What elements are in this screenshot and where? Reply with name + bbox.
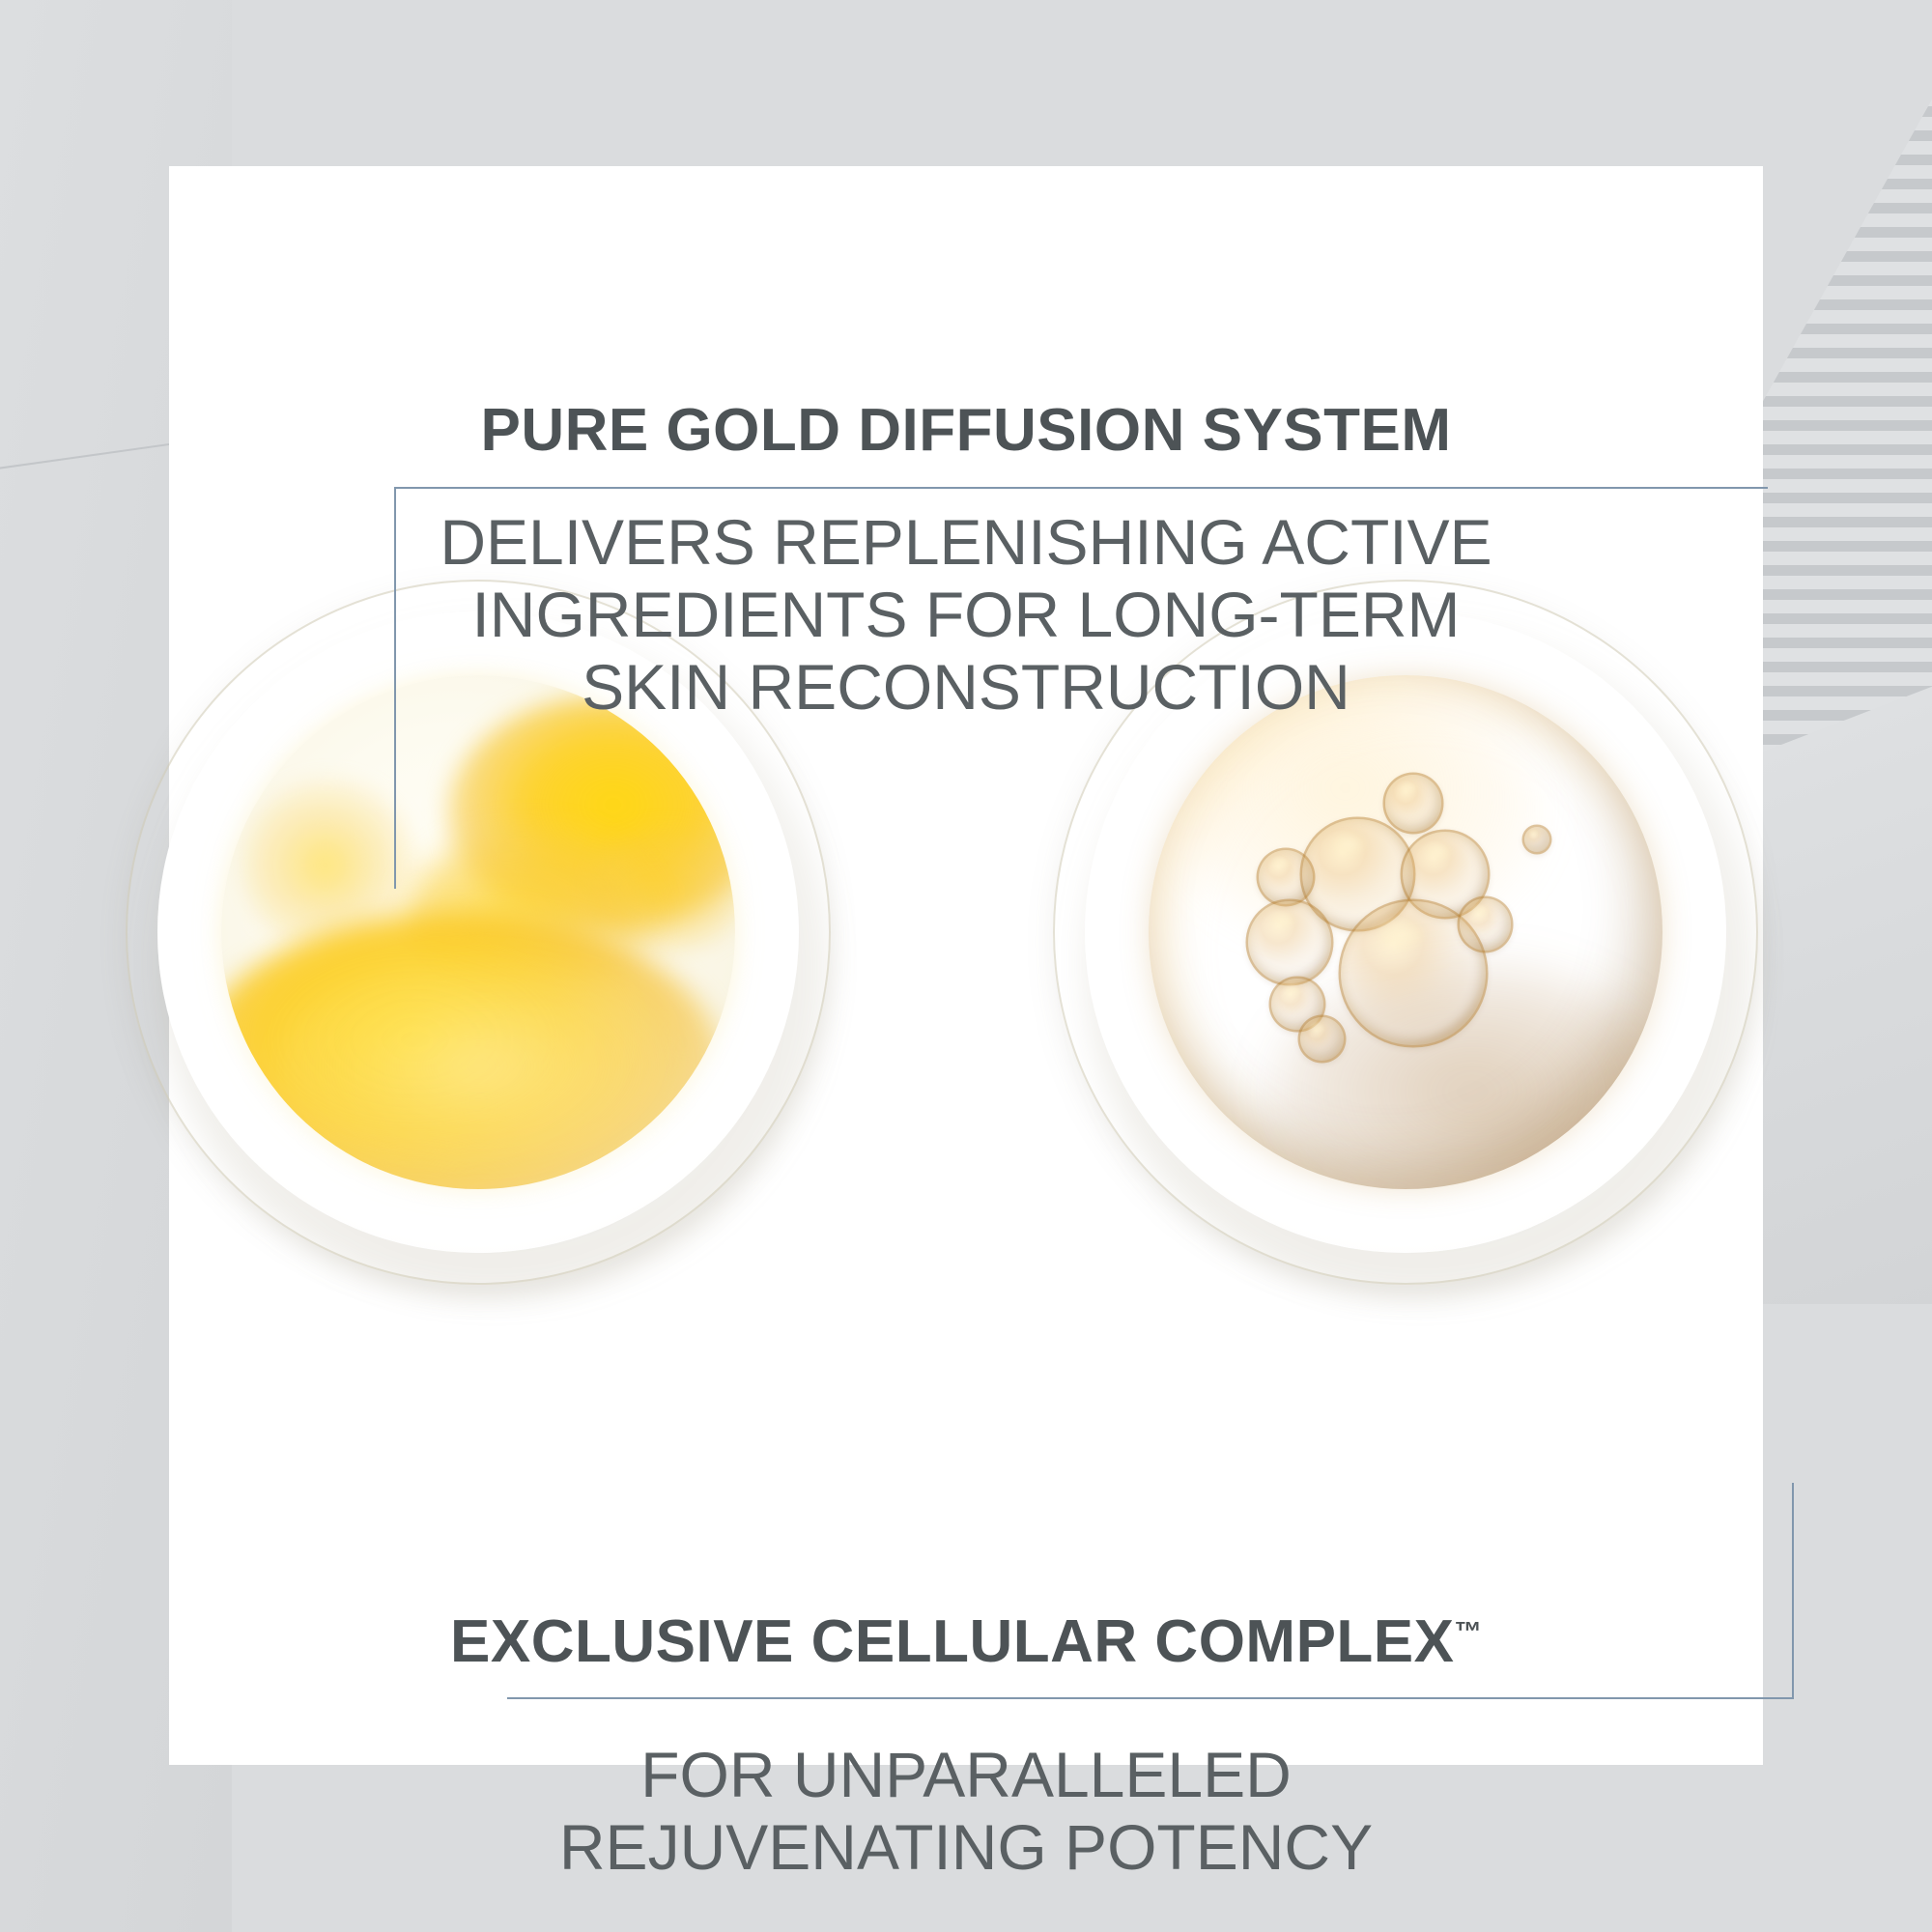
subtext-top-line-2: INGREDIENTS FOR LONG-TERM (169, 579, 1763, 651)
oil-bubble (1248, 901, 1330, 983)
content-card: PURE GOLD DIFFUSION SYSTEM DELIVERS REPL… (169, 166, 1763, 1765)
subtext-top-line-3: SKIN RECONSTRUCTION (169, 651, 1763, 724)
oil-bubble-small (1524, 827, 1550, 853)
headline-bottom: EXCLUSIVE CELLULAR COMPLEX™ (169, 1612, 1763, 1672)
yellow-diffusion-liquid (221, 675, 736, 1190)
oil-bubble (1300, 1017, 1344, 1061)
oil-bubble (1259, 850, 1313, 904)
headline-top: PURE GOLD DIFFUSION SYSTEM (169, 401, 1763, 461)
oil-bubble (1385, 775, 1442, 832)
trademark-symbol: ™ (1455, 1616, 1483, 1647)
subtext-bottom: FOR UNPARALLELED REJUVENATING POTENCY (169, 1739, 1763, 1884)
subtext-bottom-line-2: REJUVENATING POTENCY (169, 1811, 1763, 1884)
headline-bottom-text: EXCLUSIVE CELLULAR COMPLEX (450, 1608, 1455, 1675)
subtext-bottom-line-1: FOR UNPARALLELED (169, 1739, 1763, 1811)
poster-canvas: PURE GOLD DIFFUSION SYSTEM DELIVERS REPL… (0, 0, 1932, 1932)
oil-bubble (1460, 898, 1511, 950)
ink-pale-wash (272, 952, 684, 1179)
subtext-top-line-1: DELIVERS REPLENISHING ACTIVE (169, 506, 1763, 579)
amber-oil-liquid (1149, 675, 1663, 1190)
subtext-top: DELIVERS REPLENISHING ACTIVE INGREDIENTS… (169, 506, 1763, 724)
